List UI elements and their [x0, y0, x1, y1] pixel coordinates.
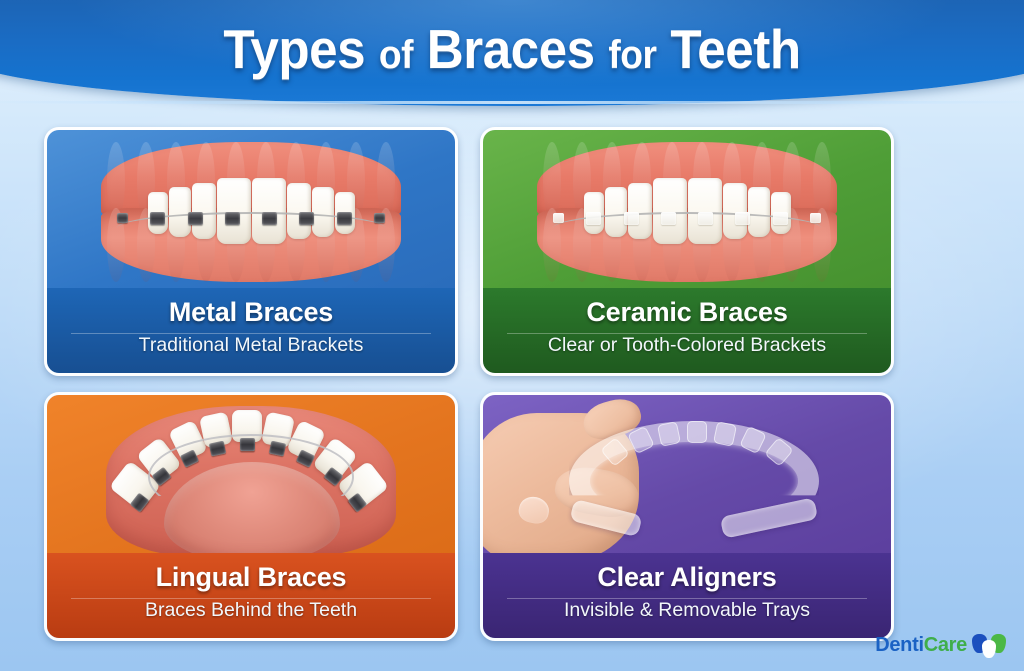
lingual-bracket-row [96, 404, 406, 556]
metal-bracket-row [117, 206, 385, 230]
metal-braces-illustration [47, 130, 455, 294]
lingual-braces-label: Lingual Braces Braces Behind the Teeth [47, 553, 455, 638]
card-lingual-braces[interactable]: Lingual Braces Braces Behind the Teeth [44, 392, 458, 641]
dental-model-ceramic [537, 142, 837, 282]
card-title: Ceramic Braces [483, 295, 891, 330]
label-divider [507, 598, 866, 599]
tray-tooth-pockets [569, 421, 819, 545]
label-divider [71, 333, 430, 334]
lower-arch-top-view [96, 404, 406, 556]
ceramic-braces-illustration [483, 130, 891, 294]
clear-aligners-label: Clear Aligners Invisible & Removable Tra… [483, 553, 891, 638]
label-divider [507, 333, 866, 334]
title-word-types: Types [223, 18, 365, 80]
ceramic-braces-label: Ceramic Braces Clear or Tooth-Colored Br… [483, 288, 891, 373]
lingual-braces-illustration [47, 395, 455, 559]
title-word-braces: Braces [427, 18, 595, 80]
page-title: Types of Braces for Teeth [36, 22, 988, 77]
logo-name-second: Care [924, 634, 967, 656]
card-ceramic-braces[interactable]: Ceramic Braces Clear or Tooth-Colored Br… [480, 127, 894, 376]
title-word-teeth: Teeth [670, 18, 800, 80]
brand-logo[interactable]: DentiCare [875, 633, 1006, 659]
dental-model-metal [101, 142, 401, 282]
card-title: Lingual Braces [47, 560, 455, 595]
metal-braces-label: Metal Braces Traditional Metal Brackets [47, 288, 455, 373]
thumbnail [517, 494, 552, 526]
braces-type-grid: Metal Braces Traditional Metal Brackets [44, 127, 980, 631]
label-divider [71, 598, 430, 599]
card-subtitle: Clear or Tooth-Colored Brackets [483, 330, 891, 360]
card-metal-braces[interactable]: Metal Braces Traditional Metal Brackets [44, 127, 458, 376]
card-clear-aligners[interactable]: Clear Aligners Invisible & Removable Tra… [480, 392, 894, 641]
tooth-icon [972, 633, 1006, 659]
title-word-for: for [608, 33, 656, 77]
header-edge-highlight [0, 101, 1024, 104]
clear-aligners-illustration [483, 395, 891, 559]
ceramic-bracket-row [553, 206, 821, 230]
tooth-icon-white [982, 640, 996, 658]
card-title: Metal Braces [47, 295, 455, 330]
aligner-scene [483, 395, 891, 559]
card-subtitle: Braces Behind the Teeth [47, 595, 455, 625]
title-word-of: of [379, 33, 413, 77]
logo-text: DentiCare [875, 635, 967, 657]
logo-name-first: Denti [875, 634, 924, 656]
card-subtitle: Invisible & Removable Trays [483, 595, 891, 625]
card-subtitle: Traditional Metal Brackets [47, 330, 455, 360]
card-title: Clear Aligners [483, 560, 891, 595]
infographic-poster: Types of Braces for Teeth [0, 0, 1024, 671]
clear-aligner-tray [569, 421, 819, 545]
